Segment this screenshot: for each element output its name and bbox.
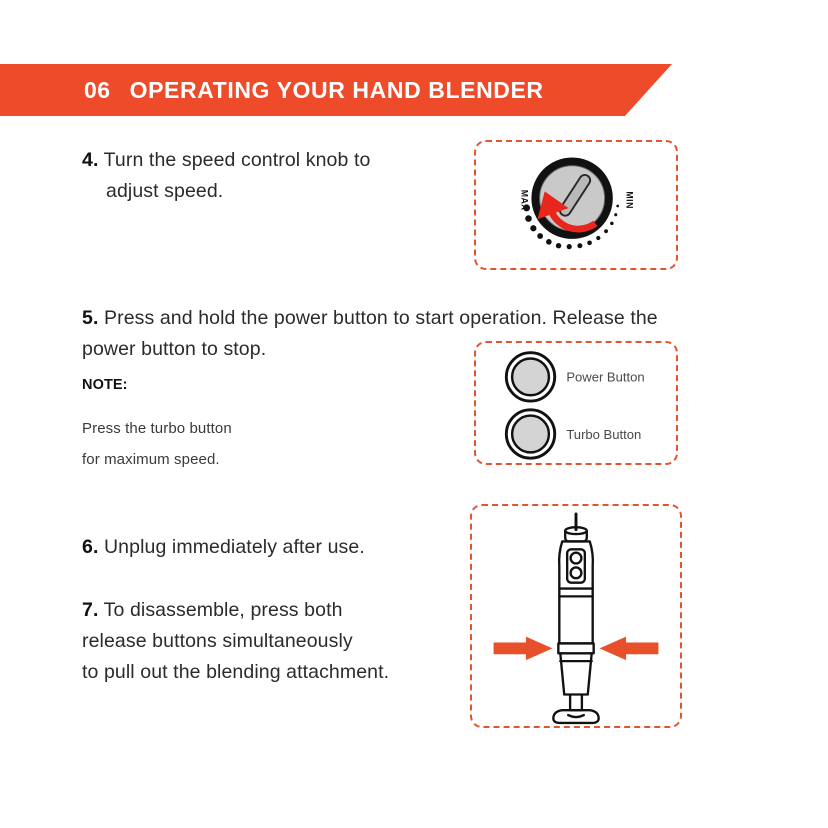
note-line-2: for maximum speed. <box>82 444 412 475</box>
buttons-illustration-box: Power Button Turbo Button <box>474 341 678 465</box>
release-arrow-right-icon <box>600 637 659 661</box>
blender-outline <box>553 514 598 723</box>
step-7-line-3: to pull out the blending attachment. <box>82 657 472 688</box>
knob-illustration-box: MAX MIN <box>474 140 678 270</box>
step-4-number: 4. <box>82 149 98 171</box>
step-5-line-1: Press and hold the power button to start… <box>104 307 658 329</box>
knob-label-min: MIN <box>624 191 634 208</box>
release-arrow-left-icon <box>494 637 553 661</box>
instruction-step-7: 7. To disassemble, press both release bu… <box>82 595 472 688</box>
step-6-number: 6. <box>82 536 98 558</box>
section-header-banner: 06 OPERATING YOUR HAND BLENDER <box>0 64 672 116</box>
note-title: NOTE: <box>82 370 412 401</box>
section-number: 06 <box>84 77 111 104</box>
speed-control-knob-icon: MAX MIN <box>476 142 676 268</box>
blender-illustration-box <box>470 504 682 728</box>
step-4-line-1: Turn the speed control knob to <box>104 149 371 171</box>
power-button-icon <box>506 353 554 401</box>
instruction-step-4: 4. Turn the speed control knob to adjust… <box>82 145 442 207</box>
turbo-button-label: Turbo Button <box>566 427 641 442</box>
hand-blender-icon <box>472 506 680 726</box>
step-4-line-2: adjust speed. <box>82 176 442 207</box>
instruction-step-6: 6. Unplug immediately after use. <box>82 532 462 563</box>
step-5-number: 5. <box>82 307 98 329</box>
banner-inner: 06 OPERATING YOUR HAND BLENDER <box>84 77 544 104</box>
knob-label-max: MAX <box>520 190 530 211</box>
note-line-1: Press the turbo button <box>82 413 412 444</box>
power-button-label: Power Button <box>566 370 644 385</box>
step-7-line-1: To disassemble, press both <box>104 599 343 621</box>
page-title: OPERATING YOUR HAND BLENDER <box>130 77 544 104</box>
step-6-line-1: Unplug immediately after use. <box>104 536 365 558</box>
step-7-number: 7. <box>82 599 98 621</box>
note-block: NOTE: Press the turbo button for maximum… <box>82 370 412 475</box>
power-turbo-buttons-icon: Power Button Turbo Button <box>476 343 676 463</box>
turbo-button-icon <box>506 410 554 458</box>
step-7-line-2: release buttons simultaneously <box>82 626 472 657</box>
